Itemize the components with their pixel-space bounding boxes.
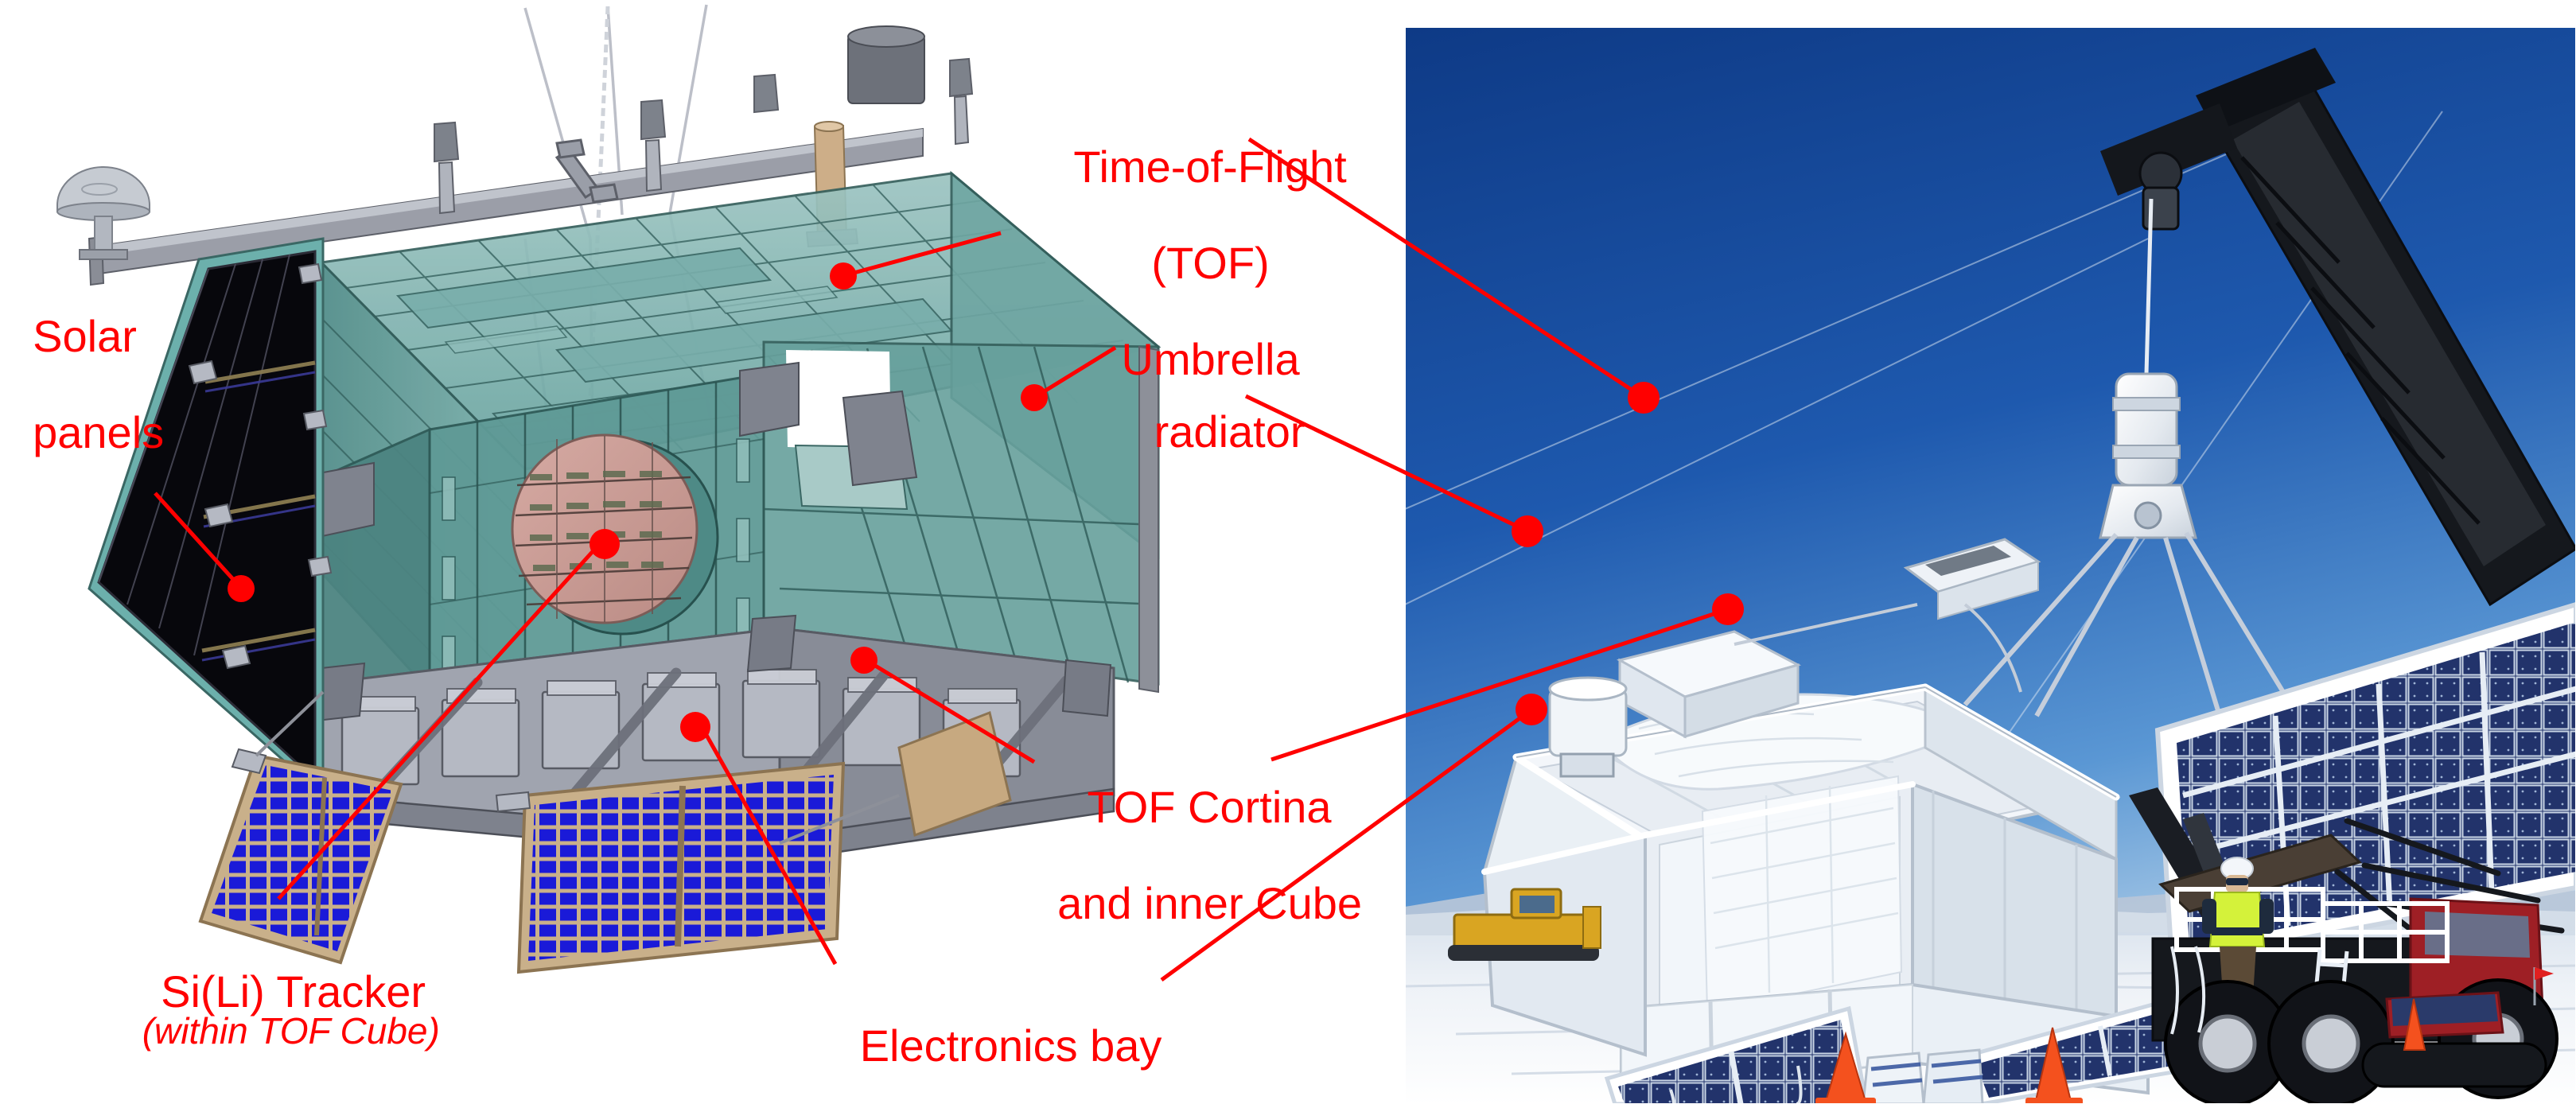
label-solar-panels: Solar panels	[8, 265, 191, 457]
photo-panel	[1405, 27, 2576, 1104]
label-tof-umbrella: Time-of-Flight (TOF) Umbrella	[1023, 95, 1373, 384]
dot-photo-tof-umbrella	[1628, 382, 1660, 414]
dot-tof-cortina	[850, 647, 877, 674]
dot-tof-umbrella	[830, 262, 857, 290]
label-tof-cortina: TOF Cortina and inner Cube	[1026, 736, 1368, 928]
hi-vis-jacket	[2210, 892, 2264, 947]
dot-electronics-bay	[680, 712, 710, 742]
cylinder-canister	[848, 26, 924, 103]
dot-si-li-tracker	[590, 529, 620, 559]
solar-panel-blue-array-right	[496, 764, 843, 972]
label-radiator: radiator	[1114, 360, 1321, 457]
dot-photo-cortina	[1712, 593, 1744, 625]
dot-radiator	[1021, 384, 1048, 411]
truck-drum	[2363, 1044, 2546, 1087]
dot-photo-radiator	[1512, 515, 1543, 547]
label-electronics-bay: Electronics bay	[819, 974, 1177, 1071]
dot-photo-electronics-bay	[1516, 694, 1547, 725]
label-si-li-tracker-sub: (within TOF Cube)	[94, 972, 468, 1051]
dot-solar-panels	[228, 575, 255, 602]
